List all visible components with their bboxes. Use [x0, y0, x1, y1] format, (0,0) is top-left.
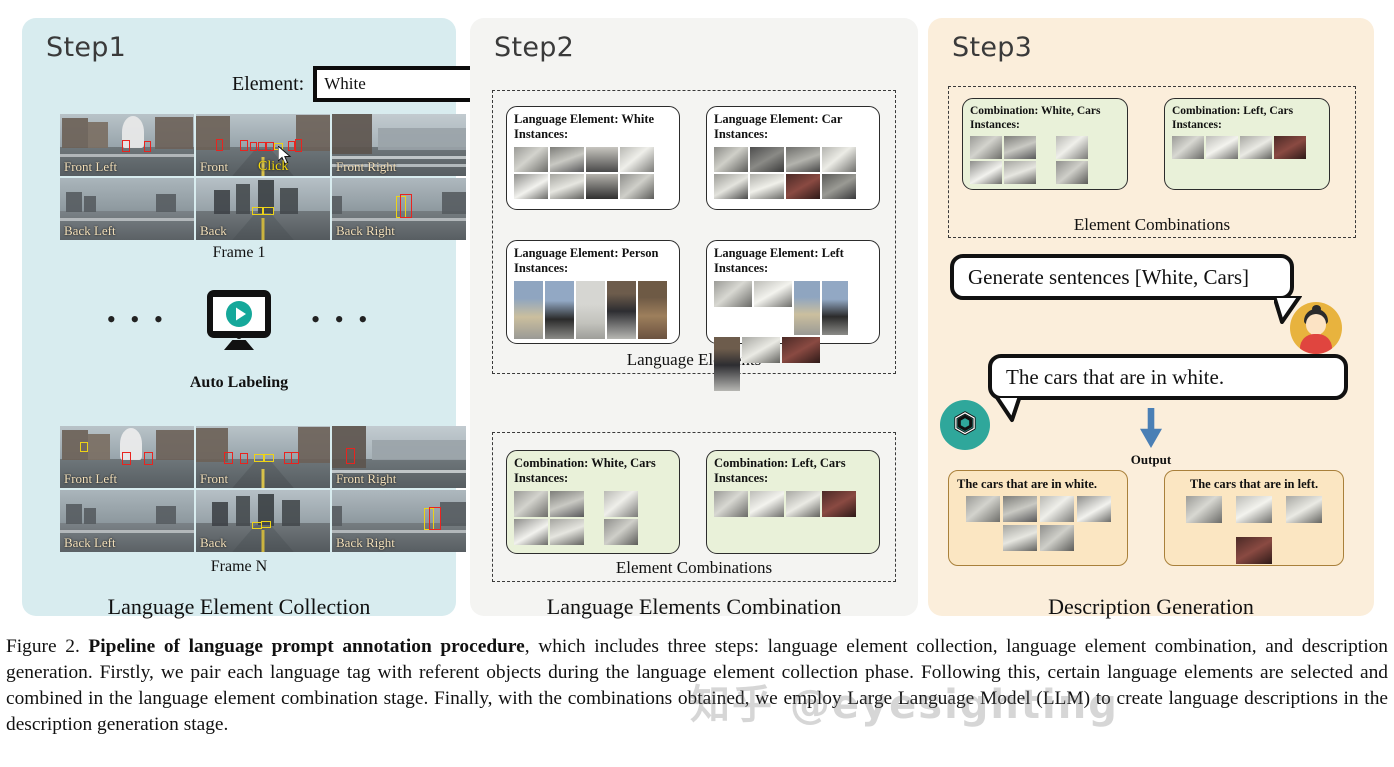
instance-thumbnail — [742, 337, 780, 363]
combination-card-left-cars[interactable]: Combination: Left, Cars Instances: — [706, 450, 880, 554]
instance-thumbnail — [1003, 496, 1037, 522]
instance-thumbnail — [607, 281, 636, 339]
card-title-line2: Instances: — [514, 261, 672, 276]
step3-footer: Description Generation — [928, 594, 1374, 620]
instance-thumbnail — [714, 281, 752, 307]
auto-labeling-monitor-icon — [207, 290, 271, 350]
step1-footer: Language Element Collection — [22, 594, 456, 620]
click-annotation: Click — [258, 159, 288, 175]
instance-thumbnail — [604, 491, 638, 517]
camera-view-back[interactable]: Back — [196, 178, 330, 240]
instance-thumbnail — [586, 174, 618, 199]
instance-thumbnails — [970, 136, 1120, 184]
instance-thumbnail — [576, 281, 605, 339]
element-input[interactable]: White — [313, 66, 483, 102]
camera-label: Back Left — [64, 223, 116, 239]
step2-footer: Language Elements Combination — [470, 594, 918, 620]
frame1-camera-grid: Front Left Front Click — [60, 114, 466, 240]
instance-thumbnail — [794, 281, 820, 335]
instance-thumbnail — [514, 491, 548, 517]
instance-thumbnail — [620, 174, 654, 199]
ellipsis-right: • • • — [311, 307, 371, 333]
caption-prefix: Figure 2. — [6, 636, 80, 657]
instance-thumbnail — [1056, 161, 1088, 184]
output-card-left[interactable]: The cars that are in left. — [1164, 470, 1344, 566]
camera-view-front-right[interactable]: Front Right — [332, 114, 466, 176]
instance-thumbnail — [638, 281, 667, 339]
instance-thumbnail — [1186, 496, 1222, 523]
instance-thumbnail — [714, 174, 748, 199]
response-bubble: The cars that are in white. — [988, 354, 1348, 400]
camera-view-back-left[interactable]: Back Left — [60, 178, 194, 240]
language-element-card-left[interactable]: Language Element: Left Instances: — [706, 240, 880, 344]
instance-thumbnail — [714, 147, 748, 172]
instance-thumbnail — [550, 491, 584, 517]
instance-thumbnail — [1004, 136, 1036, 159]
element-field-row: Element: White — [232, 66, 483, 102]
figure-pipeline: Step1 Element: White Front Left — [0, 0, 1394, 630]
camera-label: Front Right — [336, 471, 396, 487]
figure-caption: Figure 2. Pipeline of language prompt an… — [6, 634, 1388, 738]
panel-step1: Step1 Element: White Front Left — [22, 18, 456, 616]
instance-thumbnail — [1004, 161, 1036, 184]
instance-thumbnail — [822, 174, 856, 199]
combination-card-white-cars[interactable]: Combination: White, Cars Instances: — [962, 98, 1128, 190]
instance-thumbnails — [514, 491, 672, 545]
instance-thumbnails — [957, 496, 1119, 551]
instance-thumbnail — [822, 281, 848, 335]
instance-thumbnail — [786, 147, 820, 172]
card-title-line2: Instances: — [714, 127, 872, 142]
instance-thumbnail — [782, 337, 820, 363]
output-card-white[interactable]: The cars that are in white. — [948, 470, 1128, 566]
instance-thumbnail — [550, 519, 584, 545]
output-label: Output — [1106, 452, 1196, 468]
step3-title: Step3 — [952, 32, 1032, 63]
instance-thumbnail — [1236, 537, 1272, 564]
camera-view-back-right[interactable]: Back Right — [332, 490, 466, 552]
instance-thumbnail — [966, 496, 1000, 522]
element-label: Element: — [232, 73, 304, 96]
card-title-line2: Instances: — [714, 471, 872, 486]
instance-thumbnail — [514, 519, 548, 545]
camera-view-front-left[interactable]: Front Left — [60, 426, 194, 488]
instance-thumbnail — [750, 147, 784, 172]
instance-thumbnail — [786, 491, 820, 517]
instance-thumbnails — [714, 281, 872, 391]
instance-thumbnails — [1172, 136, 1322, 159]
card-title-line2: Instances: — [714, 261, 872, 276]
camera-view-front-right[interactable]: Front Right — [332, 426, 466, 488]
instance-thumbnail — [750, 491, 784, 517]
openai-logo-icon — [940, 400, 990, 450]
instance-thumbnails — [514, 147, 672, 199]
card-title-line1: Language Element: Person — [514, 246, 672, 261]
camera-label: Back — [200, 535, 227, 551]
auto-labeling-caption: Auto Labeling — [22, 374, 456, 392]
instance-thumbnails — [714, 491, 872, 517]
instance-thumbnail — [750, 174, 784, 199]
camera-label: Back Right — [336, 535, 395, 551]
instance-thumbnail — [970, 161, 1002, 184]
language-element-card-white[interactable]: Language Element: White Instances: — [506, 106, 680, 210]
camera-label: Front — [200, 159, 228, 175]
camera-label: Back — [200, 223, 227, 239]
instance-thumbnails — [514, 281, 672, 339]
instance-thumbnail — [786, 174, 820, 199]
instance-thumbnail — [1040, 525, 1074, 551]
combination-card-white-cars[interactable]: Combination: White, Cars Instances: — [506, 450, 680, 554]
ellipsis-left: • • • — [107, 307, 167, 333]
instance-thumbnail — [1172, 136, 1204, 159]
language-element-card-car[interactable]: Language Element: Car Instances: — [706, 106, 880, 210]
card-title-line1: Combination: Left, Cars — [1172, 104, 1322, 118]
panel-step3: Step3 Element Combinations Combination: … — [928, 18, 1374, 616]
instance-thumbnail — [970, 136, 1002, 159]
step2-title: Step2 — [494, 32, 574, 63]
frameN-camera-grid: Front Left Front Fron — [60, 426, 466, 552]
element-combinations-caption: Element Combinations — [493, 558, 895, 578]
card-title-line2: Instances: — [514, 127, 672, 142]
instance-thumbnail — [714, 491, 748, 517]
camera-view-front[interactable]: Front Click — [196, 114, 330, 176]
instance-thumbnail — [714, 337, 740, 391]
camera-view-back[interactable]: Back — [196, 490, 330, 552]
output-sentence: The cars that are in left. — [1173, 477, 1335, 492]
panel-step2: Step2 Language Elements Language Element… — [470, 18, 918, 616]
instance-thumbnail — [1286, 496, 1322, 523]
instance-thumbnail — [1077, 496, 1111, 522]
instance-thumbnail — [514, 174, 548, 199]
instance-thumbnail — [1003, 525, 1037, 551]
camera-view-front-left[interactable]: Front Left — [60, 114, 194, 176]
output-sentence: The cars that are in white. — [957, 477, 1119, 492]
instance-thumbnail — [514, 147, 548, 172]
instance-thumbnail — [545, 281, 574, 339]
caption-bold: Pipeline of language prompt annotation p… — [88, 636, 524, 657]
card-title-line1: Combination: White, Cars — [970, 104, 1120, 118]
card-title-line1: Language Element: White — [514, 112, 672, 127]
instance-thumbnails — [1173, 496, 1335, 564]
language-element-card-person[interactable]: Language Element: Person Instances: — [506, 240, 680, 344]
card-title-line1: Language Element: Left — [714, 246, 872, 261]
camera-label: Back Left — [64, 535, 116, 551]
auto-labeling-row: • • • • • • — [22, 290, 456, 350]
instance-thumbnail — [1240, 136, 1272, 159]
camera-label: Back Right — [336, 223, 395, 239]
combination-card-left-cars[interactable]: Combination: Left, Cars Instances: — [1164, 98, 1330, 190]
card-title-line2: Instances: — [970, 118, 1120, 132]
camera-label: Front — [200, 471, 228, 487]
instance-thumbnail — [604, 519, 638, 545]
card-title-line2: Instances: — [1172, 118, 1322, 132]
card-title-line2: Instances: — [514, 471, 672, 486]
instance-thumbnail — [550, 147, 584, 172]
user-avatar-icon — [1290, 302, 1342, 354]
frameN-caption: Frame N — [22, 558, 456, 576]
instance-thumbnails — [714, 147, 872, 199]
camera-label: Front Left — [64, 159, 117, 175]
step1-title: Step1 — [46, 32, 126, 63]
camera-view-front[interactable]: Front — [196, 426, 330, 488]
instance-thumbnail — [586, 147, 618, 172]
instance-thumbnail — [1236, 496, 1272, 523]
instance-thumbnail — [514, 281, 543, 339]
card-title-line1: Combination: White, Cars — [514, 456, 672, 471]
instance-thumbnail — [822, 147, 856, 172]
instance-thumbnail — [754, 281, 792, 307]
instance-thumbnail — [1040, 496, 1074, 522]
camera-view-back-left[interactable]: Back Left — [60, 490, 194, 552]
instance-thumbnail — [550, 174, 584, 199]
card-title-line1: Language Element: Car — [714, 112, 872, 127]
instance-thumbnail — [822, 491, 856, 517]
card-title-line1: Combination: Left, Cars — [714, 456, 872, 471]
prompt-bubble: Generate sentences [White, Cars] — [950, 254, 1294, 300]
camera-label: Front Right — [336, 159, 396, 175]
camera-label: Front Left — [64, 471, 117, 487]
instance-thumbnail — [620, 147, 654, 172]
frame1-caption: Frame 1 — [22, 244, 456, 262]
camera-view-back-right[interactable]: Back Right — [332, 178, 466, 240]
instance-thumbnail — [1274, 136, 1306, 159]
instance-thumbnail — [1206, 136, 1238, 159]
instance-thumbnail — [1056, 136, 1088, 159]
element-combinations-caption: Element Combinations — [949, 215, 1355, 235]
